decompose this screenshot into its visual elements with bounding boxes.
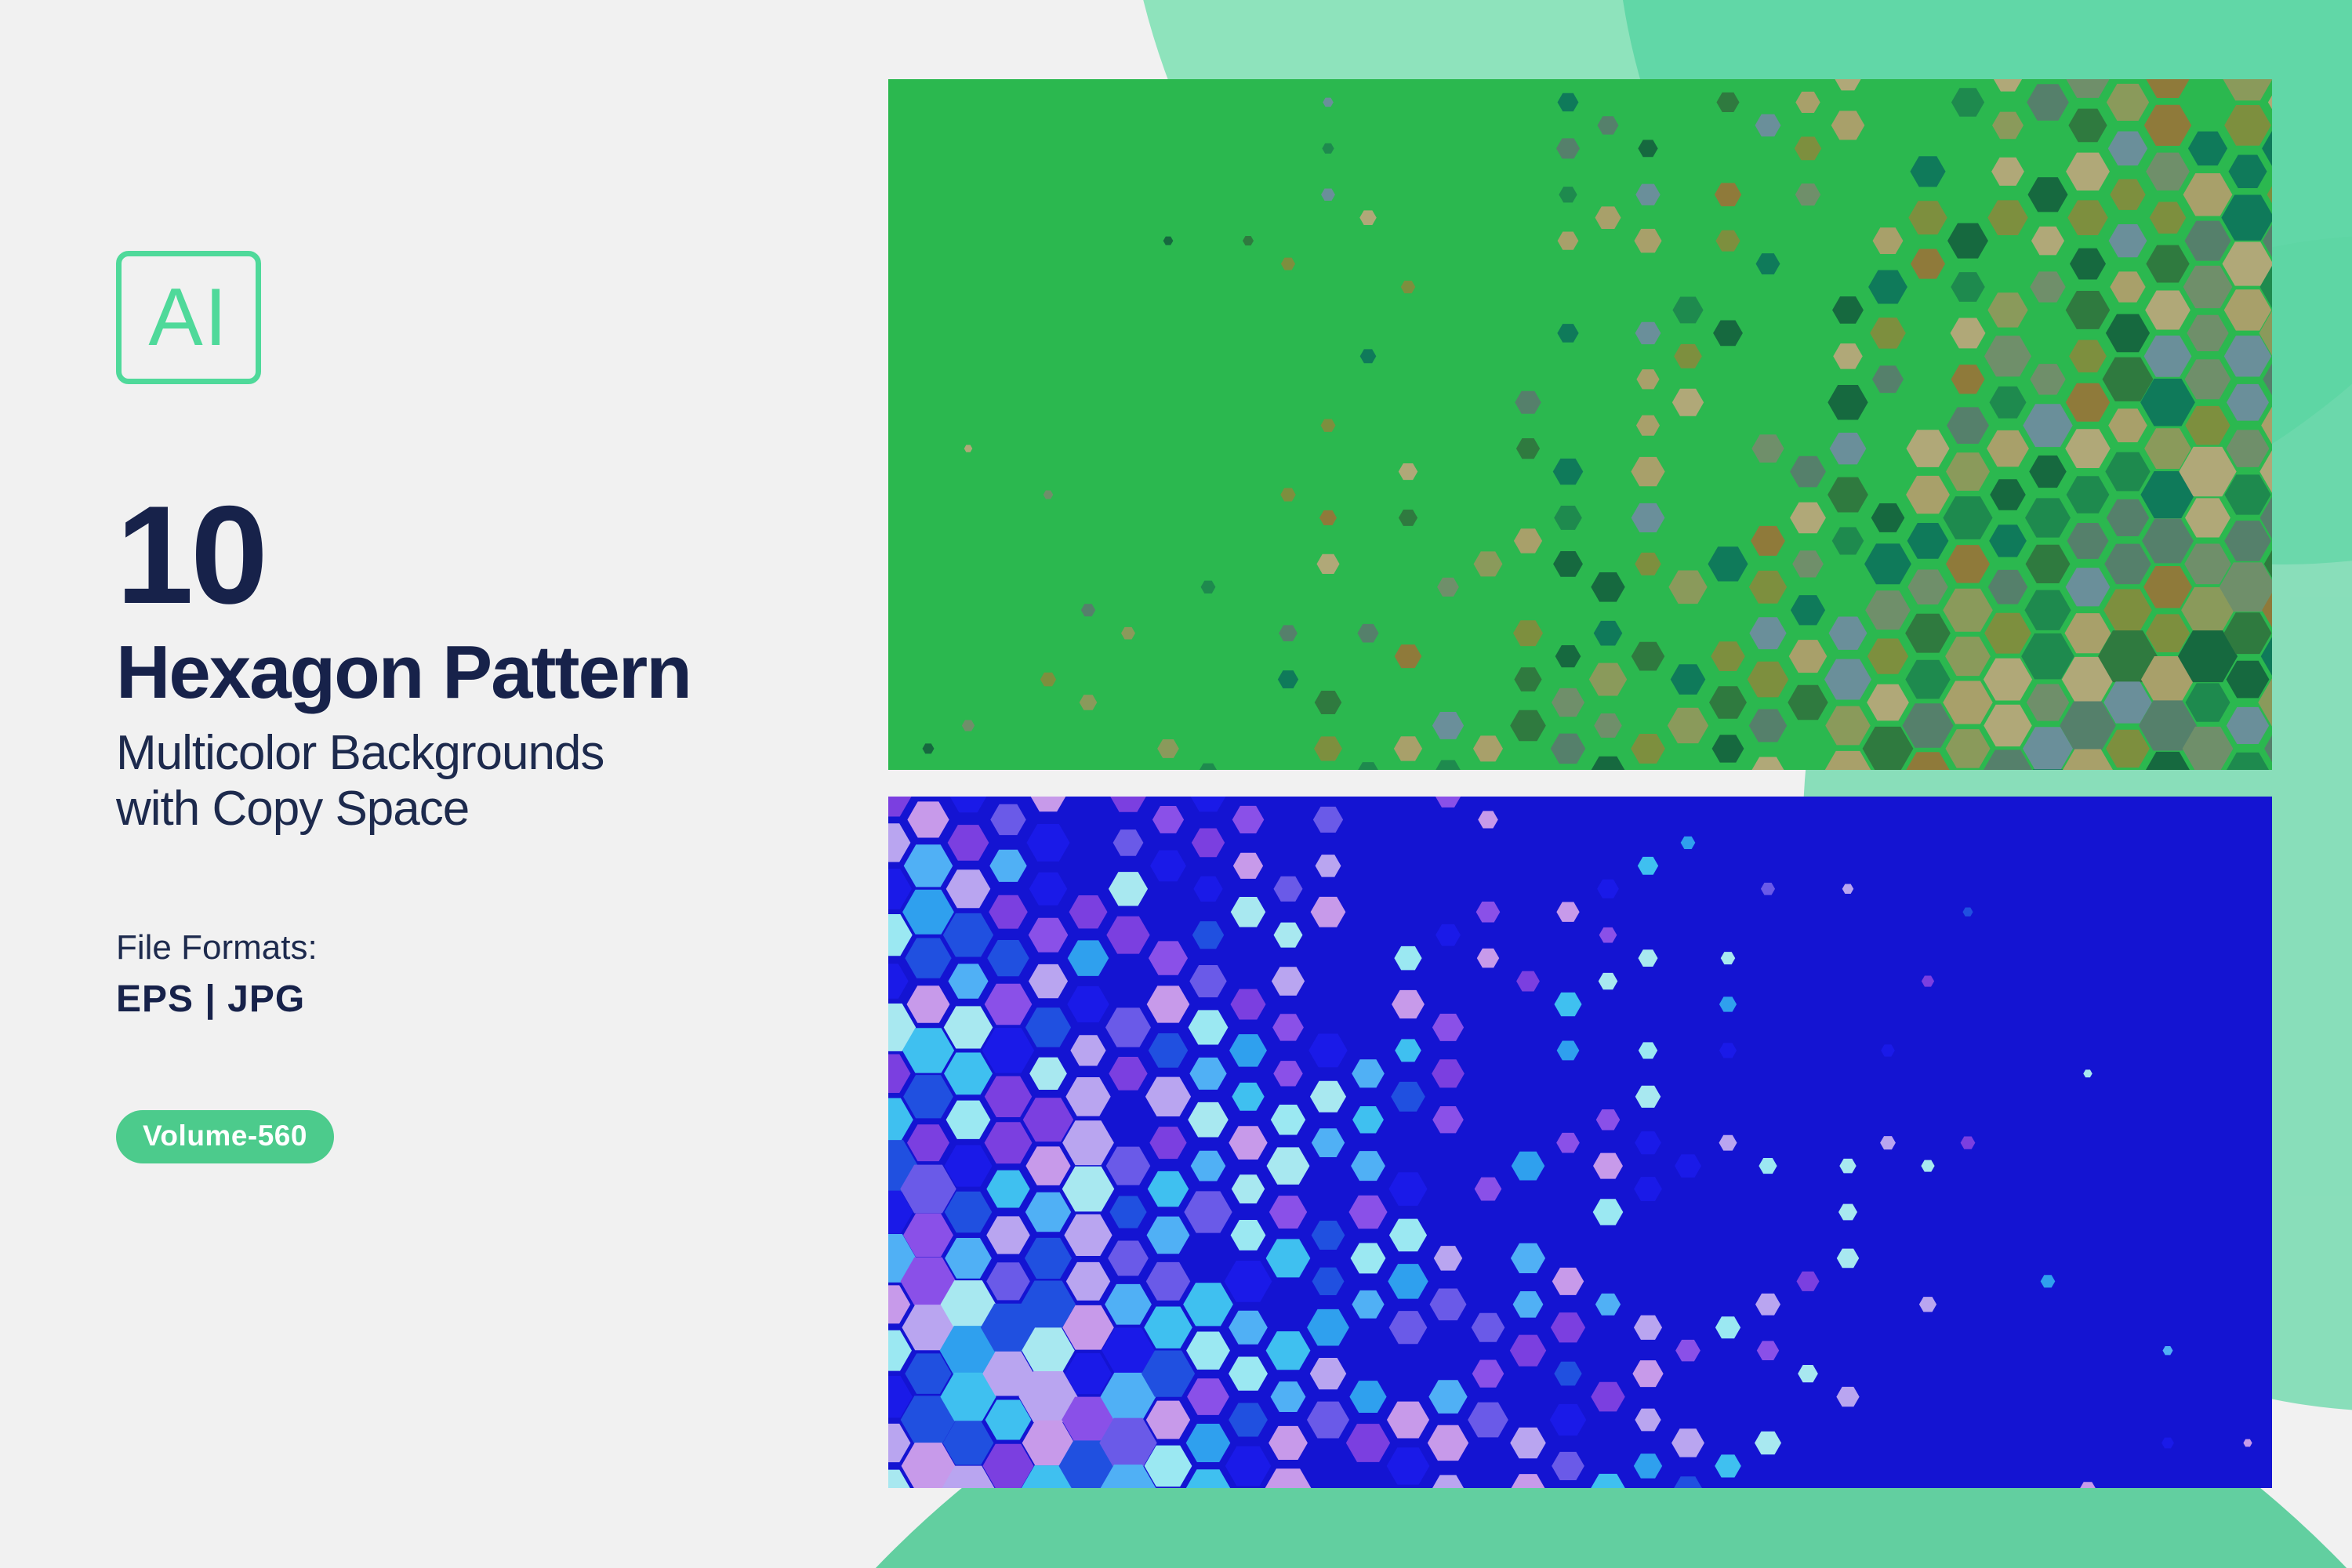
hexagon-pattern-blue	[888, 797, 2272, 1488]
ai-format-badge: AI	[116, 251, 261, 384]
preview-panel-green	[888, 79, 2272, 770]
item-count: 10	[116, 494, 845, 617]
file-formats-label: File Formats:	[116, 925, 845, 970]
subtitle-line-2: with Copy Space	[116, 781, 845, 837]
file-formats-block: File Formats: EPS | JPG	[116, 925, 845, 1024]
volume-badge: Volume-560	[116, 1110, 334, 1163]
preview-panel-blue	[888, 797, 2272, 1488]
page-title: Hexagon Pattern	[116, 634, 845, 711]
poster-canvas: AI 10 Hexagon Pattern Multicolor Backgro…	[0, 0, 2352, 1568]
hexagon-pattern-green	[888, 79, 2272, 770]
file-formats-value: EPS | JPG	[116, 975, 845, 1024]
subtitle-line-1: Multicolor Backgrounds	[116, 725, 845, 782]
info-column: AI 10 Hexagon Pattern Multicolor Backgro…	[116, 251, 845, 1163]
ai-badge-label: AI	[148, 277, 228, 358]
